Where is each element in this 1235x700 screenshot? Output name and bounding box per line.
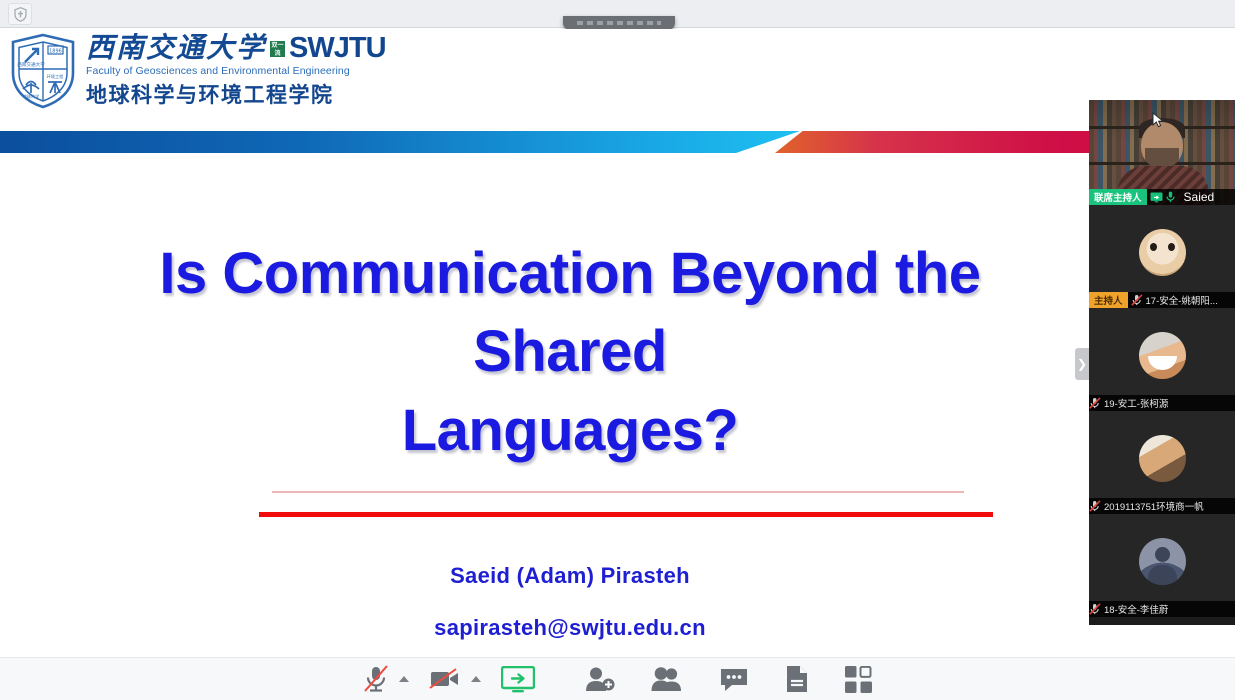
shared-screen-slide: 1896 西南交通大学 地球科学 环境工程 西南交通大学 双一流 SWJTU F…	[0, 29, 1235, 657]
faculty-name-en: Faculty of Geosciences and Environmental…	[86, 65, 386, 77]
chat-icon	[719, 667, 749, 692]
meeting-controls-collapsed-tab[interactable]	[563, 16, 675, 30]
participant-label: 19-安工-张柯源	[1089, 395, 1235, 411]
participant-label: 主持人 17-安全-姚朝阳...	[1089, 292, 1235, 308]
university-logo: 1896 西南交通大学 地球科学 环境工程 西南交通大学 双一流 SWJTU F…	[10, 33, 386, 109]
stop-video-button[interactable]	[425, 658, 465, 700]
participant-label: 18-安全-李佳蔚	[1089, 601, 1235, 617]
invite-participant-icon	[585, 666, 615, 692]
screen-share-icon	[1150, 192, 1163, 203]
participant-tile[interactable]: 主持人 17-安全-姚朝阳...	[1089, 205, 1235, 308]
title-line-2: Languages?	[60, 392, 1080, 470]
document-button[interactable]	[781, 658, 813, 700]
video-camera-off-icon	[429, 667, 461, 691]
participant-name: Saied	[1178, 190, 1215, 204]
role-badge: 主持人	[1089, 292, 1128, 308]
svg-text:地球科学: 地球科学	[23, 93, 40, 100]
meeting-toolbar	[0, 657, 1235, 700]
view-layout-button[interactable]	[841, 658, 876, 700]
presenter-email: sapirasteh@swjtu.edu.cn	[60, 615, 1080, 641]
chat-button[interactable]	[715, 658, 753, 700]
microphone-muted-icon	[1089, 397, 1101, 409]
participant-name: 17-安全-姚朝阳...	[1146, 293, 1218, 307]
university-abbr: SWJTU	[289, 33, 386, 63]
shield-icon[interactable]	[8, 3, 32, 25]
decorative-gradient-band	[0, 125, 1235, 157]
mute-audio-button[interactable]	[359, 658, 393, 700]
participant-tile[interactable]: 2019113751环境商一帆	[1089, 411, 1235, 514]
participant-label: 2019113751环境商一帆	[1089, 498, 1235, 514]
presenter-name: Saeid (Adam) Pirasteh	[60, 563, 1080, 589]
participant-video-strip: 联席主持人 Saied	[1089, 100, 1235, 625]
share-screen-icon	[501, 666, 535, 693]
drag-grip-icon	[577, 21, 661, 25]
girl-avatar	[1139, 435, 1186, 482]
svg-text:环境工程: 环境工程	[47, 73, 65, 80]
manage-participants-icon	[651, 666, 683, 692]
seal-badge: 双一流	[270, 41, 285, 57]
university-name-cn: 西南交通大学	[86, 34, 266, 63]
role-badge: 联席主持人	[1089, 189, 1147, 205]
page-title: Is Communication Beyond the Shared Langu…	[60, 235, 1080, 470]
cat-avatar	[1139, 229, 1186, 276]
anime-avatar	[1139, 332, 1186, 379]
manage-participants-button[interactable]	[647, 658, 687, 700]
svg-text:1896: 1896	[49, 49, 62, 55]
divider-thin	[272, 491, 964, 493]
person-avatar	[1139, 538, 1186, 585]
audio-options-caret-icon[interactable]	[399, 676, 409, 682]
participant-name: 18-安全-李佳蔚	[1104, 602, 1168, 616]
band-blue-segment	[0, 131, 800, 153]
participant-name: 2019113751环境商一帆	[1104, 499, 1204, 513]
participant-tile[interactable]: 19-安工-张柯源 ❯	[1089, 308, 1235, 411]
microphone-muted-icon	[1131, 294, 1143, 306]
view-layout-icon	[845, 666, 872, 693]
document-icon	[785, 665, 809, 693]
share-screen-button[interactable]	[497, 658, 539, 700]
microphone-icon	[1166, 191, 1175, 203]
microphone-muted-icon	[1089, 500, 1101, 512]
participant-tile[interactable]: 18-安全-李佳蔚	[1089, 514, 1235, 617]
swjtu-crest-icon: 1896 西南交通大学 地球科学 环境工程	[10, 33, 76, 109]
participant-name: 19-安工-张柯源	[1104, 396, 1168, 410]
university-name-cn-row: 西南交通大学 双一流 SWJTU	[86, 33, 386, 63]
svg-text:西南交通大学: 西南交通大学	[17, 61, 45, 68]
mouse-pointer-icon	[1152, 112, 1164, 128]
participant-tile[interactable]: 联席主持人 Saied	[1089, 100, 1235, 205]
video-options-caret-icon[interactable]	[471, 676, 481, 682]
invite-participant-button[interactable]	[581, 658, 619, 700]
microphone-muted-icon	[363, 664, 389, 694]
participant-label: 联席主持人 Saied	[1089, 189, 1235, 205]
divider-thick	[259, 512, 993, 517]
title-line-1: Is Communication Beyond the Shared	[60, 235, 1080, 392]
slide-collapse-chevron-right-icon[interactable]: ❯	[1075, 348, 1089, 380]
zoom-meeting-window: 1896 西南交通大学 地球科学 环境工程 西南交通大学 双一流 SWJTU F…	[0, 0, 1235, 700]
faculty-name-cn: 地球科学与环境工程学院	[86, 79, 386, 109]
microphone-muted-icon	[1089, 603, 1101, 615]
